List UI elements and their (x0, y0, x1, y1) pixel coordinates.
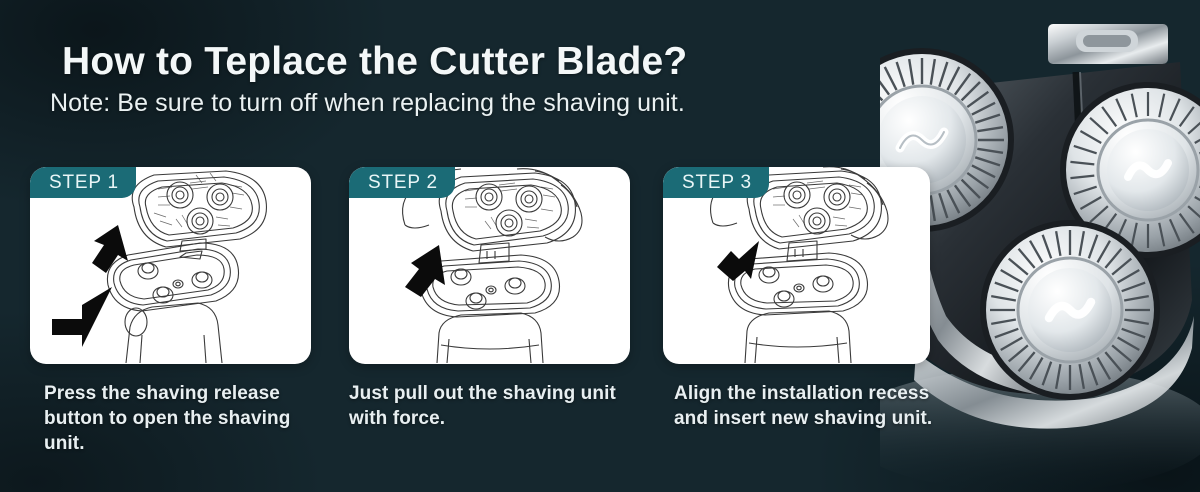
page-title: How to Teplace the Cutter Blade? (62, 40, 687, 84)
step-1-badge: STEP 1 (30, 167, 136, 198)
step-card-3[interactable]: STEP 3 (663, 167, 930, 364)
step-1-caption: Press the shaving release button to open… (44, 381, 319, 456)
arrow-up (405, 245, 445, 297)
step-3-badge: STEP 3 (663, 167, 769, 198)
step-3-caption: Align the installation recess and insert… (674, 381, 944, 431)
page-note: Note: Be sure to turn off when replacing… (50, 89, 685, 118)
step-2-caption: Just pull out the shaving unit with forc… (349, 381, 629, 431)
arrow-down (717, 241, 759, 281)
arrow-up-left (92, 225, 128, 273)
step-2-badge: STEP 2 (349, 167, 455, 198)
step-card-2[interactable]: STEP 2 (349, 167, 630, 364)
step-card-1[interactable]: STEP 1 (30, 167, 311, 364)
arrow-up-right (52, 287, 112, 347)
